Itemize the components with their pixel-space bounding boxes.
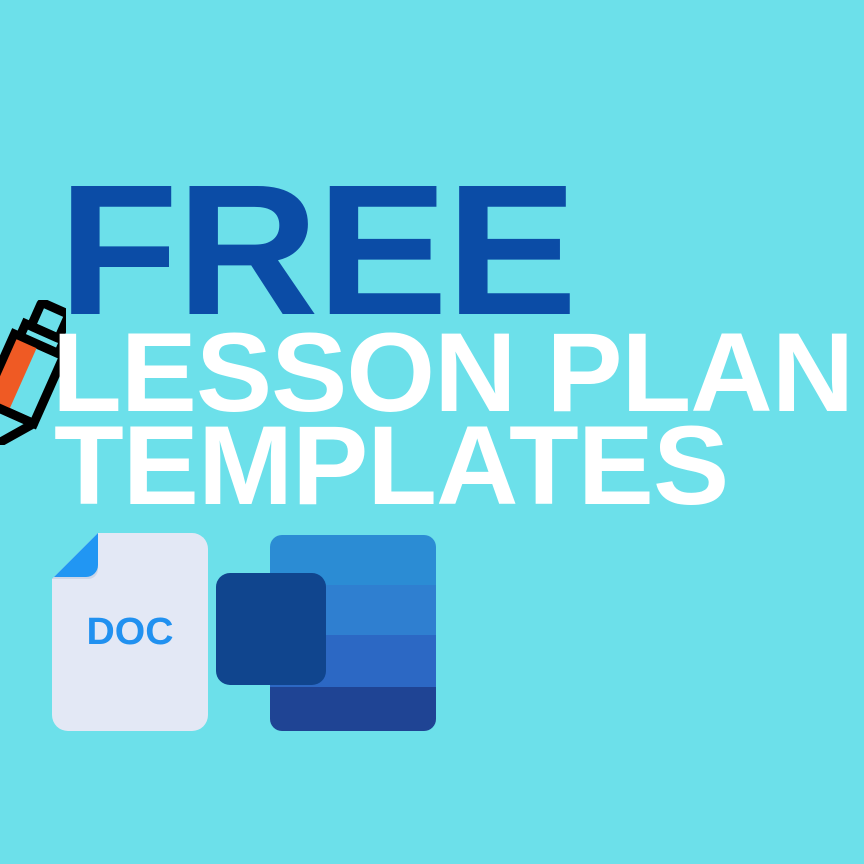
headline-templates: TEMPLATES: [54, 410, 728, 522]
doc-file-label: DOC: [50, 611, 211, 654]
doc-file-icon[interactable]: DOC: [52, 533, 208, 731]
poster-canvas: FREE LESSON PLAN TEMPLATES DOC: [0, 0, 864, 864]
word-app-icon[interactable]: W: [214, 533, 436, 733]
